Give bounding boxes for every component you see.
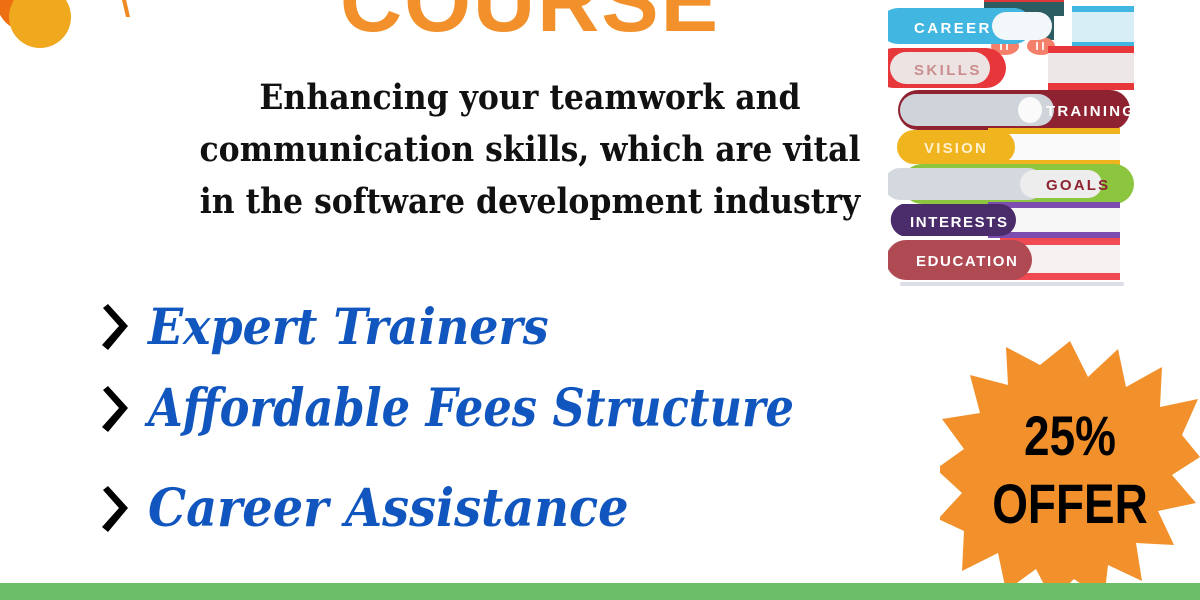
stack-shadow (900, 282, 1124, 286)
status-badge: 25% OFFER (940, 341, 1200, 600)
offer-percent: 25% (963, 407, 1176, 465)
book-interests: INTERESTS (891, 202, 1120, 238)
chevron-right-icon (98, 304, 132, 350)
book-stack-illustration: CAREER SKILLS TRAINING (888, 0, 1150, 314)
book-label: EDUCATION (916, 253, 1018, 270)
book-education: EDUCATION (888, 238, 1120, 280)
feature-label: Expert Trainers (148, 300, 549, 354)
offer-word: OFFER (963, 473, 1176, 535)
feature-label: Affordable Fees Structure (148, 382, 794, 436)
book-label: GOALS (1046, 177, 1110, 194)
chevron-right-icon (98, 486, 132, 532)
feature-list: Expert Trainers Affordable Fees Structur… (98, 288, 938, 548)
subtitle: Enhancing your teamwork and communicatio… (116, 72, 944, 228)
subtitle-line-2: communication skills, which are vital (116, 124, 944, 176)
offer-text-block: 25% OFFER (940, 407, 1200, 535)
book-label: CAREER (914, 20, 992, 37)
book-label: VISION (924, 140, 988, 157)
book-label: TRAINING (1046, 103, 1136, 120)
chevron-right-icon (98, 386, 132, 432)
promo-banner: COURSE Enhancing your teamwork and commu… (0, 0, 1200, 600)
subtitle-line-1: Enhancing your teamwork and (116, 72, 944, 124)
list-item: Career Assistance (98, 470, 938, 548)
book-training: TRAINING (898, 90, 1136, 130)
list-item: Expert Trainers (98, 288, 938, 366)
bottom-accent-bar (0, 583, 1200, 600)
book-label: INTERESTS (910, 214, 1009, 231)
book-career: CAREER (888, 6, 1134, 48)
subtitle-line-3: in the software development industry (116, 176, 944, 228)
book-vision: VISION (897, 128, 1120, 166)
book-goals: GOALS (888, 164, 1134, 204)
book-label: SKILLS (914, 62, 982, 79)
feature-label: Career Assistance (148, 482, 629, 536)
list-item: Affordable Fees Structure (98, 370, 938, 448)
